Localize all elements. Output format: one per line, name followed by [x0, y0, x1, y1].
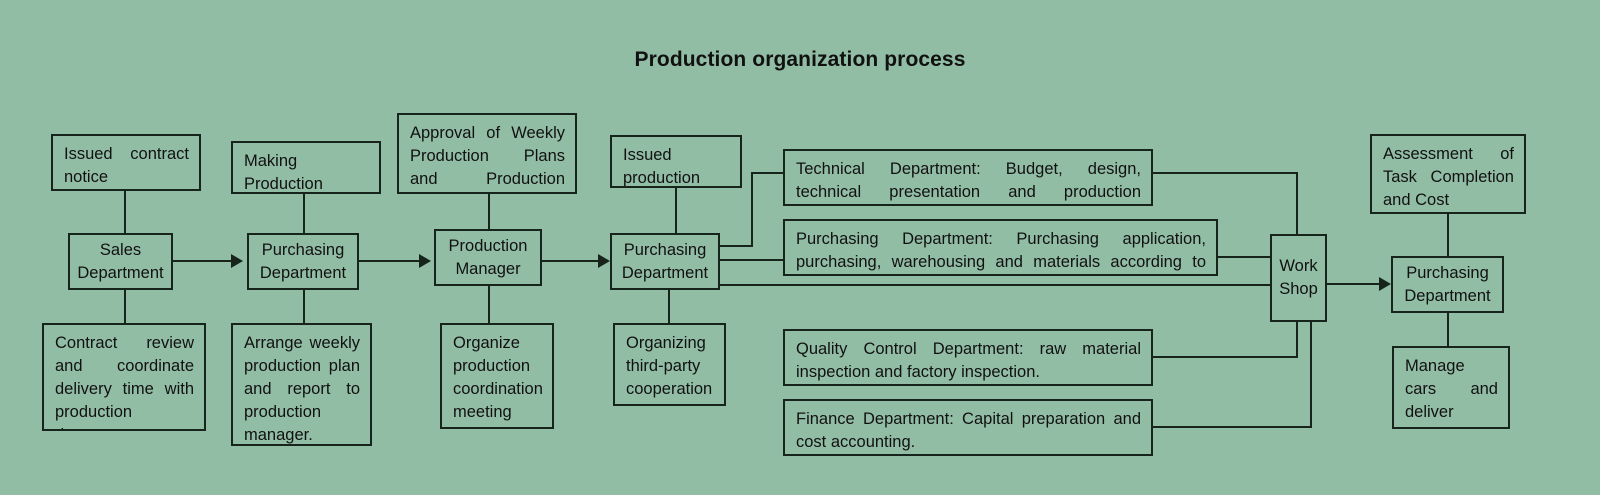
flowchart-canvas: Production organization process Issued c… [0, 0, 1600, 495]
connector-quality-to-workshop-h [1153, 356, 1298, 358]
arrowhead-sales-to-purchasing1 [231, 254, 243, 268]
connector-notice-to-sales [124, 191, 126, 233]
node-manage-cars: Manage cars and deliver goods [1392, 346, 1510, 429]
connector-assessment-to-purchasing3 [1447, 214, 1449, 256]
connector-purchasing2-to-workshop [720, 284, 1270, 286]
connector-purchasing2-to-thirdparty [668, 290, 670, 323]
connector-purchasing2-to-technical-v [751, 172, 753, 247]
node-organizing-third-party: Organizing third-party cooperation [613, 323, 726, 406]
connector-purchasing3-to-manage-cars [1447, 313, 1449, 346]
page-title: Production organization process [0, 48, 1600, 72]
connector-purchasing2-to-purchasing-detail [720, 259, 783, 261]
connector-purchasing2-to-technical-h1 [720, 245, 753, 247]
node-purchasing-department-1: Purchasing Department [247, 233, 359, 290]
node-technical-department: Technical Department: Budget, design, te… [783, 149, 1153, 206]
connector-quality-to-workshop-v [1296, 322, 1298, 358]
connector-technical-to-workshop-v [1296, 172, 1298, 234]
node-contract-review: Contract review and coordinate delivery … [42, 323, 206, 431]
connector-approval-to-manager [488, 194, 490, 229]
connector-manager-to-meeting [488, 286, 490, 323]
node-organize-coordination-meeting: Organize production coordination meeting [440, 323, 554, 429]
node-production-manager: Production Manager [434, 229, 542, 286]
node-assessment-task: Assessment of Task Completion and Cost [1370, 134, 1526, 214]
connector-purchasing-detail-to-workshop [1218, 256, 1270, 258]
node-approval-weekly-plans: Approval of Weekly Production Plans and … [397, 113, 577, 194]
node-making-production-tasks: Making Production Tasks [231, 141, 381, 194]
node-purchasing-department-detail: Purchasing Department: Purchasing applic… [783, 219, 1218, 276]
arrowhead-workshop-to-purchasing3 [1379, 277, 1391, 291]
connector-purchasing1-to-plan [303, 290, 305, 323]
connector-finance-to-workshop-v [1310, 322, 1312, 428]
node-purchasing-department-2: Purchasing Department [610, 233, 720, 290]
node-issued-production-tasks: Issued production tasks [610, 135, 742, 188]
arrowhead-manager-to-purchasing2 [598, 254, 610, 268]
connector-sales-to-review [124, 290, 126, 323]
connector-workshop-to-purchasing3 [1327, 283, 1379, 285]
node-work-shop: Work Shop [1270, 234, 1327, 322]
connector-manager-to-purchasing2 [542, 260, 598, 262]
connector-tasks-to-purchasing1 [303, 194, 305, 233]
node-quality-control-department: Quality Control Department: raw material… [783, 329, 1153, 386]
node-finance-department: Finance Department: Capital preparation … [783, 399, 1153, 456]
connector-issued-to-purchasing2 [675, 188, 677, 233]
connector-purchasing2-to-technical-h2 [751, 172, 783, 174]
node-sales-department: Sales Department [68, 233, 173, 290]
connector-technical-to-workshop-h [1153, 172, 1298, 174]
connector-finance-to-workshop-h [1153, 426, 1312, 428]
connector-purchasing1-to-manager [359, 260, 419, 262]
arrowhead-purchasing1-to-manager [419, 254, 431, 268]
node-arrange-weekly-plan: Arrange weekly production plan and repor… [231, 323, 372, 446]
connector-sales-to-purchasing1 [173, 260, 231, 262]
node-purchasing-department-3: Purchasing Department [1391, 256, 1504, 313]
node-issued-contract-notice: Issued contract notice [51, 134, 201, 191]
